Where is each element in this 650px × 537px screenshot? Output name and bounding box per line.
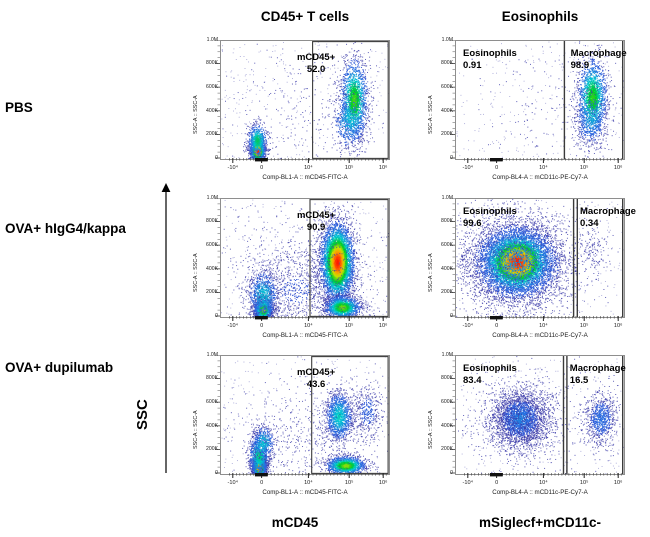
gate-percentage: 99.6 — [463, 218, 517, 230]
x-axis-tick-label: 10⁴ — [294, 165, 322, 171]
x-axis-tick-label: 10⁶ — [369, 165, 397, 171]
plot-panel-ova-higg4-kappa-cd45: mCD45+90.91.0M800K600K400K200K0SSC-A :: … — [220, 198, 390, 346]
gate-label-eosinophils: Eosinophils83.4 — [463, 363, 517, 386]
gate-percentage: 90.9 — [276, 222, 356, 234]
x-axis-tick-label: 10⁵ — [335, 165, 363, 171]
x-axis-tick-marks — [455, 473, 625, 479]
gate-name: Eosinophils — [463, 363, 517, 375]
x-axis-title: Comp-BL4-A :: mCD11c-PE-Cy7-A — [455, 174, 625, 181]
gate-label-macrophage: Macrophage0.34 — [580, 206, 636, 229]
x-axis-tick-marks — [220, 316, 390, 322]
x-axis-tick-label: 10⁶ — [604, 165, 632, 171]
gate-name: mCD45+ — [276, 52, 356, 64]
x-axis-tick-label: -10⁴ — [454, 480, 482, 486]
x-axis-tick-label: 10⁶ — [369, 323, 397, 329]
flow-cytometry-figure: CD45+ T cells Eosinophils PBS OVA+ hIgG4… — [0, 0, 650, 537]
gate-name: mCD45+ — [276, 210, 356, 222]
y-axis-title: SSC-A :: SSC-A — [428, 95, 434, 134]
x-axis-tick-marks — [220, 473, 390, 479]
x-axis-tick-marks — [455, 158, 625, 164]
gate-label-eosinophils: Eosinophils99.6 — [463, 206, 517, 229]
y-axis-title: SSC-A :: SSC-A — [428, 253, 434, 292]
x-axis-tick-label: 10⁴ — [294, 323, 322, 329]
row-label-pbs: PBS — [5, 100, 175, 116]
x-axis-tick-label: 0 — [483, 165, 511, 171]
gate-percentage: 98.9 — [571, 60, 627, 72]
plot-panel-ova-dupilumab-cd45: mCD45+43.61.0M800K600K400K200K0SSC-A :: … — [220, 355, 390, 503]
column-header-eosinophils: Eosinophils — [450, 9, 630, 24]
gate-name: Macrophage — [580, 206, 636, 218]
gate-label-macrophage: Macrophage98.9 — [571, 48, 627, 71]
gate-percentage: 0.91 — [463, 60, 517, 72]
x-axis-tick-label: 10⁴ — [294, 480, 322, 486]
x-axis-tick-label: 10⁵ — [335, 323, 363, 329]
y-axis-title: SSC-A :: SSC-A — [193, 253, 199, 292]
x-axis-title: Comp-BL1-A :: mCD45-FITC-A — [220, 332, 390, 339]
gate-percentage: 52.0 — [276, 64, 356, 76]
y-axis-tick-marks — [215, 355, 220, 475]
x-axis-title: Comp-BL4-A :: mCD11c-PE-Cy7-A — [455, 489, 625, 496]
plot-panel-ova-dupilumab-eos: Eosinophils83.4Macrophage16.51.0M800K600… — [455, 355, 625, 503]
x-axis-tick-label: -10⁴ — [454, 165, 482, 171]
x-axis-title: Comp-BL4-A :: mCD11c-PE-Cy7-A — [455, 332, 625, 339]
row-label-ova-dupilumab: OVA+ dupilumab — [5, 360, 175, 376]
x-axis-tick-label: 0 — [248, 480, 276, 486]
gate-name: Macrophage — [570, 363, 626, 375]
row-label-ova-higg4: OVA+ hIgG4/kappa — [5, 221, 175, 237]
y-axis-tick-marks — [450, 355, 455, 475]
x-axis-tick-label: 10⁶ — [369, 480, 397, 486]
y-axis-tick-marks — [215, 198, 220, 318]
x-axis-tick-label: -10⁴ — [454, 323, 482, 329]
gate-name: Eosinophils — [463, 206, 517, 218]
plot-panel-pbs-eos: Eosinophils0.91Macrophage98.91.0M800K600… — [455, 40, 625, 188]
ssc-axis-label: SSC — [134, 399, 151, 430]
x-axis-tick-label: 10⁶ — [604, 480, 632, 486]
x-axis-tick-label: -10⁴ — [219, 480, 247, 486]
x-axis-tick-label: 10⁶ — [604, 323, 632, 329]
gate-percentage: 43.6 — [276, 379, 356, 391]
gate-percentage: 83.4 — [463, 375, 517, 387]
gate-name: Macrophage — [571, 48, 627, 60]
x-axis-tick-label: 10⁴ — [529, 165, 557, 171]
x-axis-tick-label: -10⁴ — [219, 165, 247, 171]
x-axis-title: Comp-BL1-A :: mCD45-FITC-A — [220, 489, 390, 496]
y-axis-title: SSC-A :: SSC-A — [428, 410, 434, 449]
gate-label-mcd45-positive: mCD45+90.9 — [276, 210, 356, 233]
gate-label-mcd45-positive: mCD45+43.6 — [276, 367, 356, 390]
x-axis-tick-label: 10⁵ — [335, 480, 363, 486]
x-axis-tick-label: 0 — [483, 323, 511, 329]
x-axis-tick-label: 0 — [248, 323, 276, 329]
x-axis-tick-marks — [455, 316, 625, 322]
gate-name: mCD45+ — [276, 367, 356, 379]
bottom-caption-mcd45: mCD45 — [205, 515, 385, 530]
y-axis-tick-marks — [450, 198, 455, 318]
y-axis-tick-marks — [215, 40, 220, 160]
x-axis-tick-label: -10⁴ — [219, 323, 247, 329]
y-axis-title: SSC-A :: SSC-A — [193, 95, 199, 134]
plot-panel-ova-higg4-kappa-eos: Eosinophils99.6Macrophage0.341.0M800K600… — [455, 198, 625, 346]
gate-percentage: 16.5 — [570, 375, 626, 387]
y-axis-tick-marks — [450, 40, 455, 160]
x-axis-tick-label: 0 — [248, 165, 276, 171]
x-axis-tick-label: 10⁵ — [570, 323, 598, 329]
gate-percentage: 0.34 — [580, 218, 636, 230]
gate-label-macrophage: Macrophage16.5 — [570, 363, 626, 386]
column-header-cd45: CD45+ T cells — [215, 9, 395, 24]
x-axis-title: Comp-BL1-A :: mCD45-FITC-A — [220, 174, 390, 181]
gate-label-eosinophils: Eosinophils0.91 — [463, 48, 517, 71]
x-axis-tick-marks — [220, 158, 390, 164]
gate-name: Eosinophils — [463, 48, 517, 60]
ssc-axis-arrow — [160, 183, 172, 473]
gate-label-mcd45-positive: mCD45+52.0 — [276, 52, 356, 75]
plot-panel-pbs-cd45: mCD45+52.01.0M800K600K400K200K0SSC-A :: … — [220, 40, 390, 188]
bottom-caption-msiglecf: mSiglecf+mCD11c- — [440, 515, 640, 530]
x-axis-tick-label: 0 — [483, 480, 511, 486]
x-axis-tick-label: 10⁵ — [570, 165, 598, 171]
x-axis-tick-label: 10⁴ — [529, 323, 557, 329]
x-axis-tick-label: 10⁵ — [570, 480, 598, 486]
x-axis-tick-label: 10⁴ — [529, 480, 557, 486]
y-axis-title: SSC-A :: SSC-A — [193, 410, 199, 449]
